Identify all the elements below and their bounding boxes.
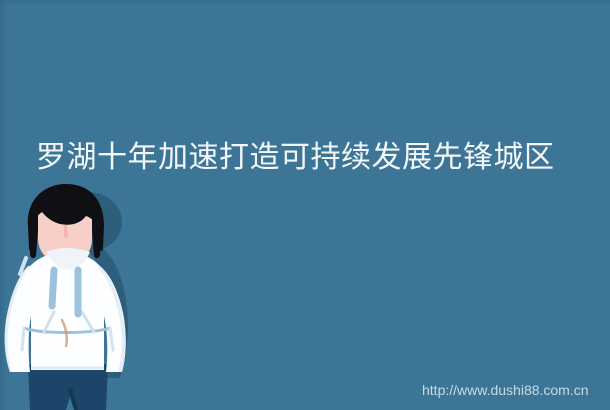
- page-title: 罗湖十年加速打造可持续发展先锋城区: [36, 139, 584, 177]
- watermark-url: http://www.dushi88.com.cn: [422, 380, 589, 400]
- promo-banner: 罗湖十年加速打造可持续发展先锋城区 http://www.dushi88.com…: [0, 0, 610, 410]
- pants-group: [28, 364, 108, 410]
- person-illustration: [0, 182, 200, 410]
